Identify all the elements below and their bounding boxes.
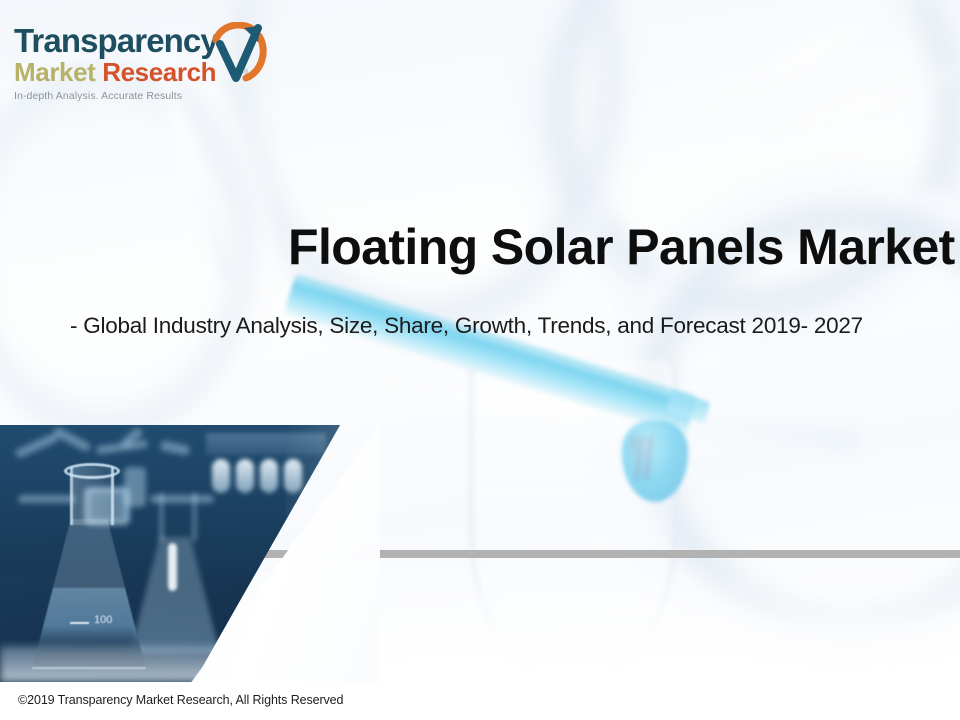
test-tube bbox=[236, 459, 254, 493]
glassware-ring-decor bbox=[215, 0, 635, 350]
chalk-mark bbox=[159, 440, 190, 456]
foreground-erlenmeyer-flask: 100 50 25 bbox=[30, 467, 148, 667]
logo-word-market: Market bbox=[14, 57, 95, 87]
brand-logo[interactable]: Transparency Market Research In-depth An… bbox=[14, 24, 264, 128]
flask-neck bbox=[160, 493, 196, 541]
test-tube bbox=[212, 459, 230, 493]
report-cover-slide: Transparency Market Research In-depth An… bbox=[0, 0, 960, 720]
logo-tagline: In-depth Analysis. Accurate Results bbox=[14, 90, 264, 102]
flask-neck bbox=[70, 467, 114, 525]
footer-copyright: ©2019 Transparency Market Research, All … bbox=[18, 693, 343, 707]
checkmark-arrow-icon bbox=[210, 22, 270, 88]
flask-graduation-100: 100 bbox=[94, 614, 112, 626]
chalk-mark bbox=[14, 432, 60, 459]
flask-highlight bbox=[168, 543, 177, 591]
page-subtitle: - Global Industry Analysis, Size, Share,… bbox=[70, 312, 950, 340]
droplet-inner-texture bbox=[632, 436, 662, 480]
registered-trademark-icon: ® bbox=[243, 69, 248, 76]
page-title: Floating Solar Panels Market bbox=[288, 219, 948, 275]
logo-word-research: Research bbox=[102, 57, 216, 87]
test-tube bbox=[260, 459, 278, 493]
